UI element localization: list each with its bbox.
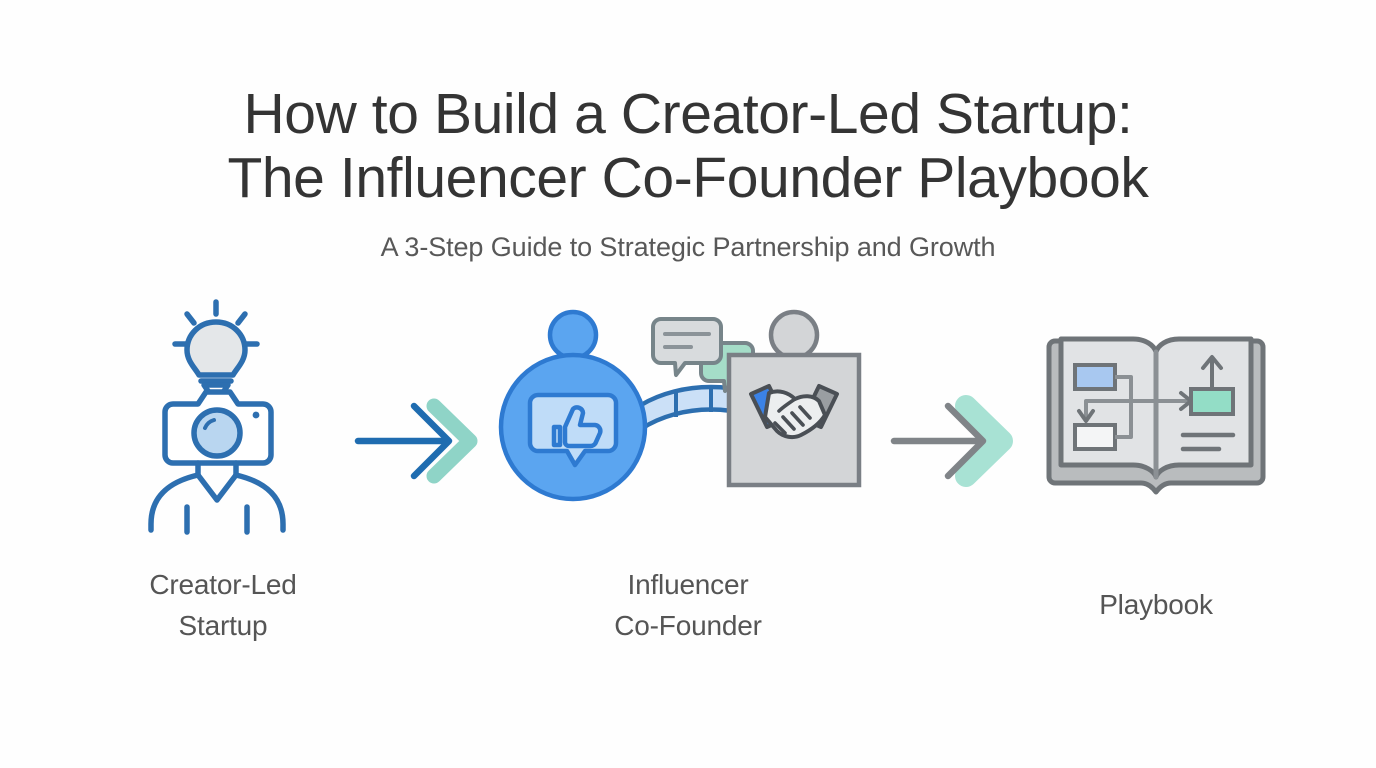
flow-arrow-gray [888,396,1016,486]
flow-step-influencer-co-founder: Influencer Co-Founder [508,292,868,646]
influencer-partnership-bridge-icon [508,292,868,532]
lightbulb-glass-icon [187,322,245,375]
header: How to Build a Creator-Led Startup: The … [0,82,1376,264]
camera-lens-icon [194,410,240,456]
process-flow: Creator-Led Startup [0,292,1376,652]
flow-step-label-1: Creator-Led Startup [103,564,343,646]
flow-arrow-blue [352,396,480,486]
flow-step-creator-led-startup: Creator-Led Startup [103,292,343,646]
creator-icon-svg [123,292,323,532]
influencer-icon-svg [513,307,863,517]
page-title-line-2: The Influencer Co-Founder Playbook [0,146,1376,210]
flow-box-blue [1075,365,1115,389]
slide-canvas: How to Build a Creator-Led Startup: The … [0,0,1376,768]
flow-step-label-2: Influencer Co-Founder [508,564,868,646]
page-title-line-1: How to Build a Creator-Led Startup: [0,82,1376,146]
collar-icon [198,475,236,500]
flow-box-green [1191,389,1233,414]
flow-arrow-gray-svg [888,396,1016,486]
influencer-head-icon [550,312,596,358]
co-founder-head-icon [771,312,817,358]
camera-flash-dot-icon [253,412,260,419]
flow-arrow-blue-svg [352,396,480,486]
playbook-icon-svg [1041,325,1271,500]
flow-step-playbook: Playbook [1036,292,1276,625]
flow-step-label-3: Playbook [1036,584,1276,625]
open-book-flowchart-icon [1036,292,1276,532]
page-title: How to Build a Creator-Led Startup: The … [0,82,1376,210]
creator-camera-lightbulb-icon [103,292,343,532]
flow-box-white [1075,425,1115,449]
page-subtitle: A 3-Step Guide to Strategic Partnership … [0,230,1376,264]
